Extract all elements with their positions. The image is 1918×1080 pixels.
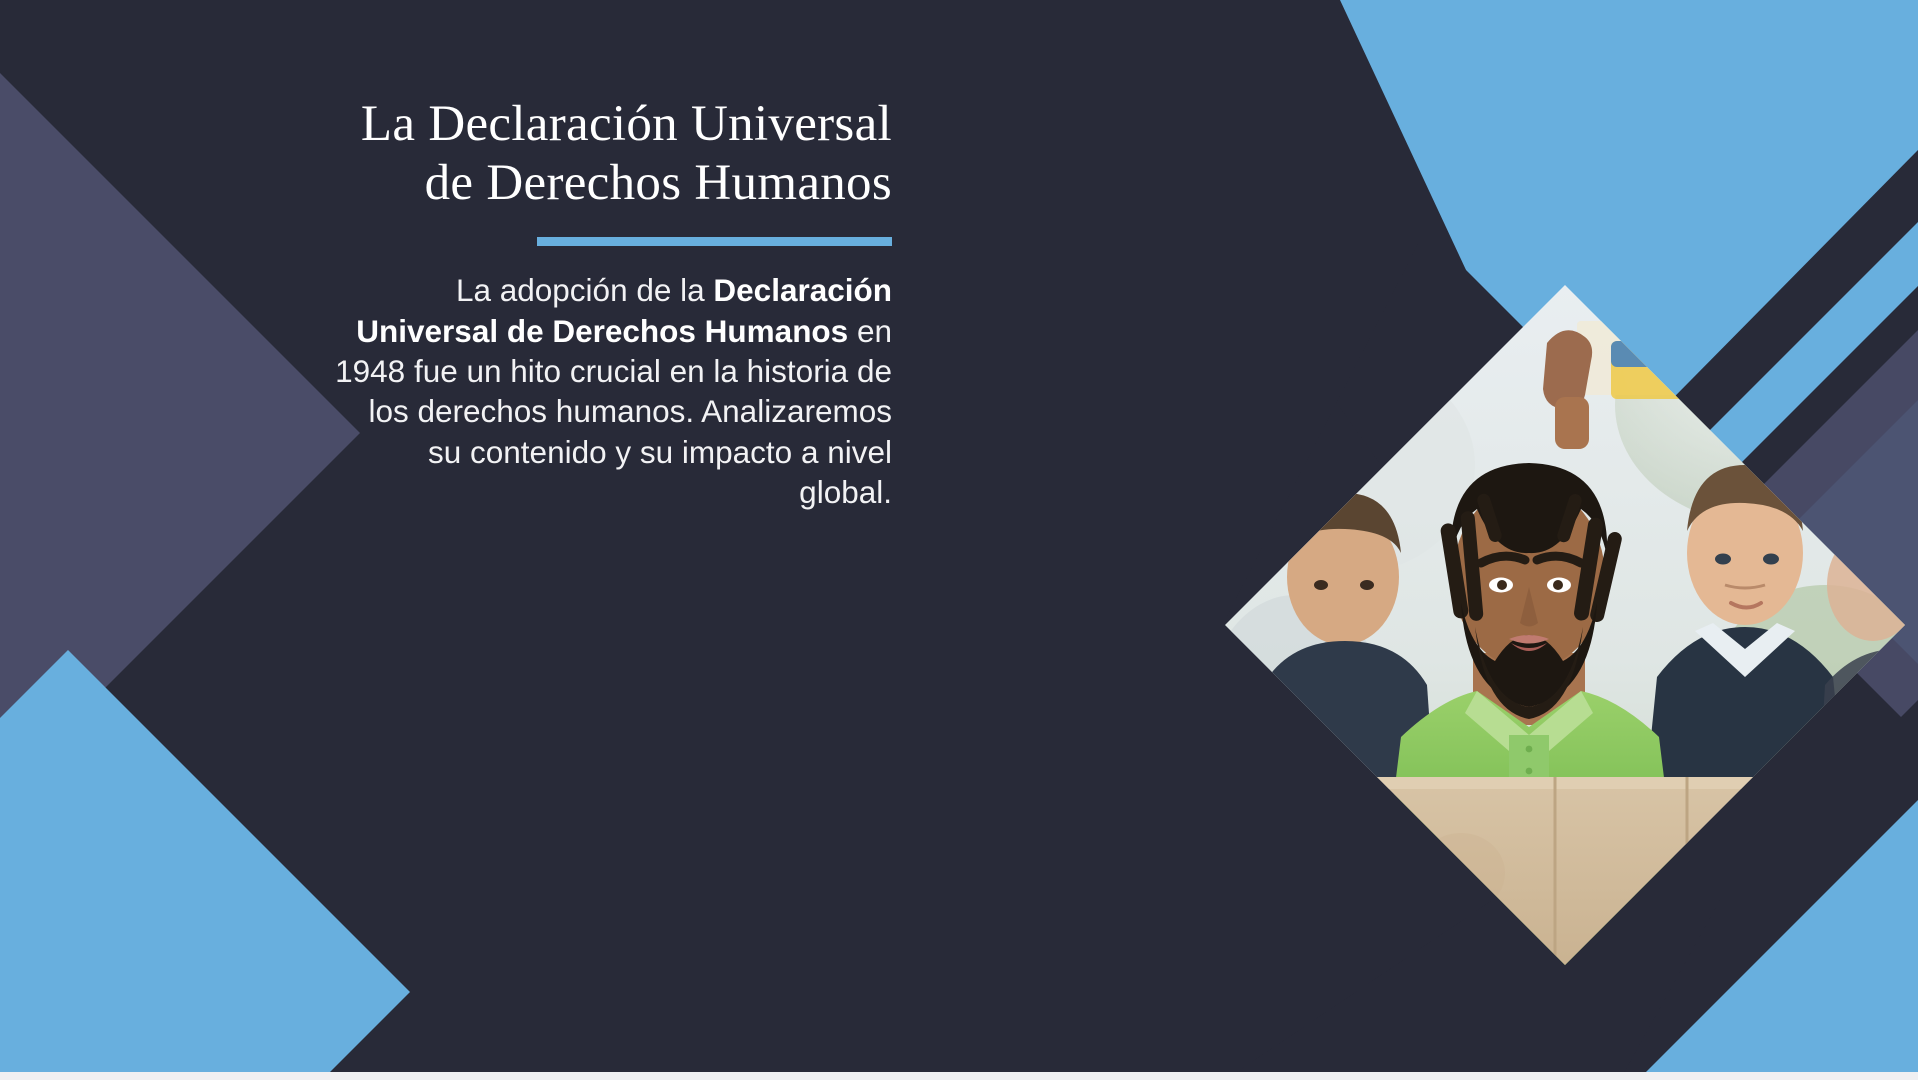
slide-body-text: La adopción de la Declaración Universal … [330,270,892,512]
body-segment-1: La adopción de la [456,272,713,308]
bottom-edge-strip [0,1072,1918,1080]
slide-text-content: La Declaración Universal de Derechos Hum… [330,95,892,512]
page-title: La Declaración Universal de Derechos Hum… [330,95,892,213]
accent-divider [537,237,892,246]
presentation-slide: La Declaración Universal de Derechos Hum… [0,0,1918,1080]
